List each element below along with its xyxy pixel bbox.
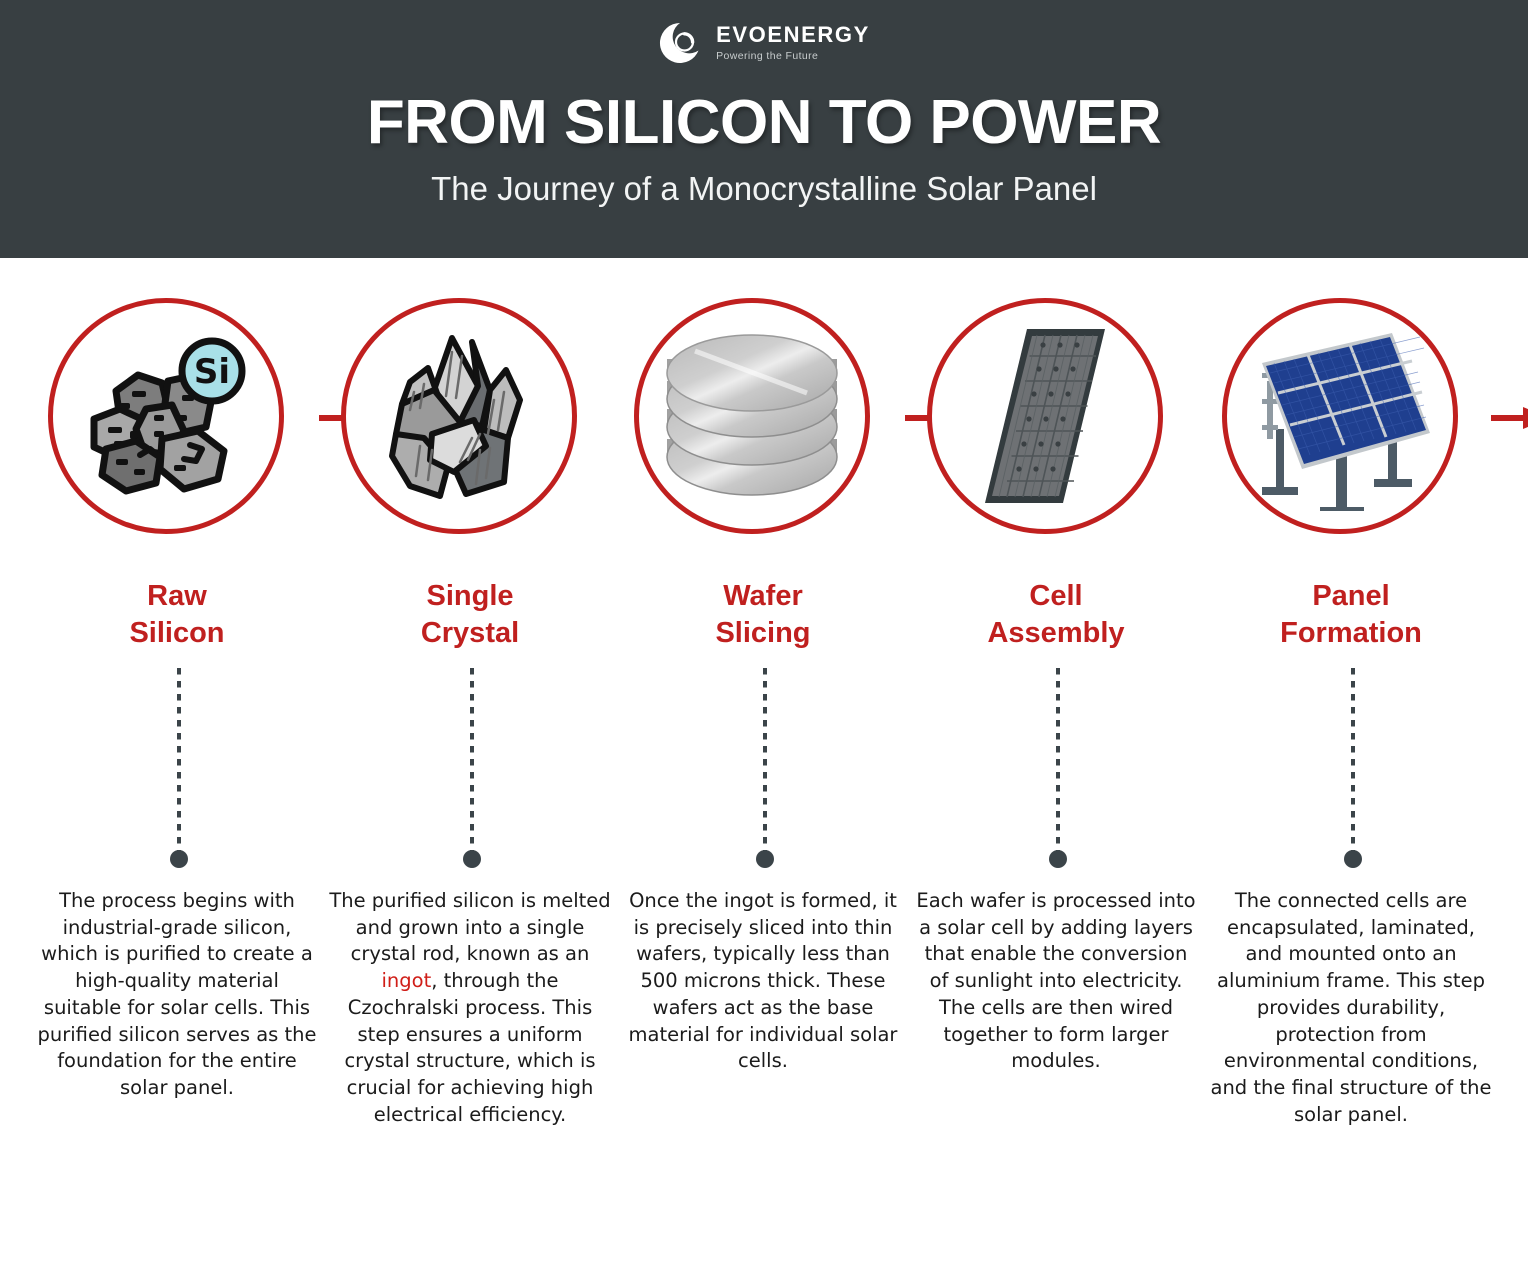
step-description: The connected cells are encapsulated, la… [1208, 888, 1494, 1128]
dotted-connector-line-icon [470, 668, 474, 858]
step-description: Each wafer is processed into a solar cel… [913, 888, 1199, 1075]
step-icon-circle [341, 298, 577, 534]
step-description: The process begins with industrial-grade… [34, 888, 320, 1102]
step-label: Panel Formation [1206, 578, 1496, 652]
flow-arrow-right-icon [1491, 406, 1528, 430]
page-subtitle: The Journey of a Monocrystalline Solar P… [431, 170, 1097, 208]
brand-lockup: EVOENERGY Powering the Future [658, 21, 870, 65]
endpoint-dot-icon [756, 850, 774, 868]
step-label: Raw Silicon [32, 578, 322, 652]
step-label-line2: Formation [1206, 615, 1496, 652]
step-icon-circle: Si [48, 298, 284, 534]
endpoint-dot-icon [1049, 850, 1067, 868]
solar-panel-array-icon [1240, 321, 1440, 511]
step-description: The purified silicon is melted and grown… [327, 888, 613, 1128]
step-label-line2: Silicon [32, 615, 322, 652]
endpoint-dot-icon [170, 850, 188, 868]
brand-text-block: EVOENERGY Powering the Future [716, 24, 870, 62]
step-label-line1: Cell [911, 578, 1201, 615]
step-label: Cell Assembly [911, 578, 1201, 652]
step-icon-circle [1222, 298, 1458, 534]
dotted-connector-line-icon [763, 668, 767, 858]
evoenergy-swirl-logo-icon [658, 21, 702, 65]
step-label-line1: Single [325, 578, 615, 615]
step-label-line2: Crystal [325, 615, 615, 652]
step-label-line1: Wafer [618, 578, 908, 615]
stacked-wafers-icon [657, 329, 847, 504]
step-label: Wafer Slicing [618, 578, 908, 652]
step-label: Single Crystal [325, 578, 615, 652]
step-description: Once the ingot is formed, it is precisel… [620, 888, 906, 1075]
solar-cell-icon [965, 321, 1125, 511]
step-label-line2: Assembly [911, 615, 1201, 652]
dotted-connector-line-icon [1351, 668, 1355, 858]
endpoint-dot-icon [463, 850, 481, 868]
brand-tagline: Powering the Future [716, 51, 870, 62]
page-title: FROM SILICON TO POWER [367, 87, 1161, 158]
step-label-line2: Slicing [618, 615, 908, 652]
step-label-line1: Panel [1206, 578, 1496, 615]
silicon-crystal-icon [374, 326, 544, 506]
step-icon-circle [927, 298, 1163, 534]
dotted-connector-line-icon [1056, 668, 1060, 858]
process-flow: Si Raw Silicon The process begins with i… [0, 258, 1528, 1281]
step-icon-circle [634, 298, 870, 534]
svg-text:Si: Si [194, 352, 230, 392]
brand-name: EVOENERGY [716, 24, 870, 46]
endpoint-dot-icon [1344, 850, 1362, 868]
dotted-connector-line-icon [177, 668, 181, 858]
page-header: EVOENERGY Powering the Future FROM SILIC… [0, 0, 1528, 258]
silicon-rocks-icon: Si [76, 331, 256, 501]
step-label-line1: Raw [32, 578, 322, 615]
